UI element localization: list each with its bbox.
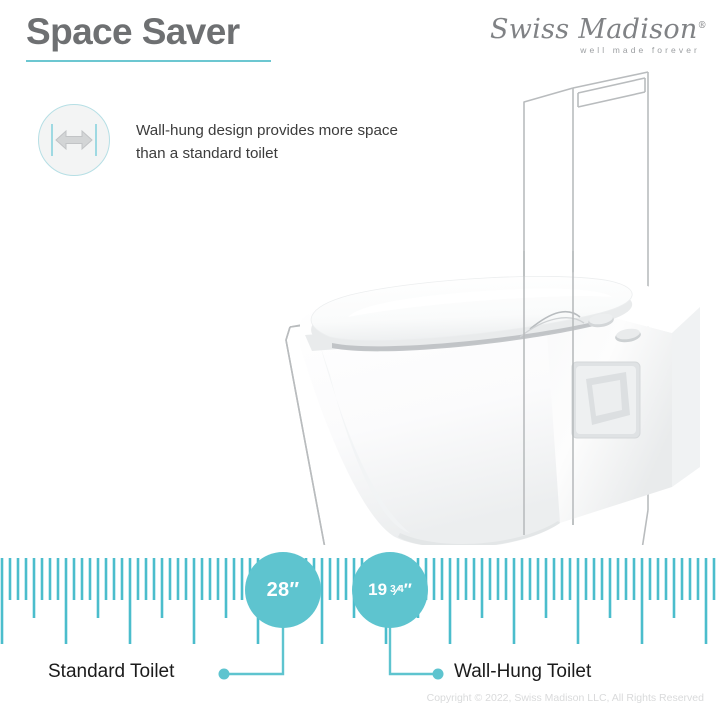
connector-dot-wallhung	[433, 669, 444, 680]
brand-tagline: well made forever	[490, 45, 702, 55]
measurement-whole-wallhung: 19	[368, 580, 387, 600]
measurement-badge-standard: 28″	[245, 552, 321, 628]
product-spec-sheet: Space Saver Swiss Madison® well made for…	[0, 0, 720, 720]
brand-name: Swiss Madison®	[490, 16, 702, 43]
measurement-badge-wallhung: 193⁄4″	[352, 552, 428, 628]
connector-line-wallhung	[390, 622, 434, 674]
registered-trademark-icon: ®	[698, 21, 707, 31]
measurement-fraction-wallhung: 3⁄4	[390, 582, 404, 599]
page-title: Space Saver	[26, 13, 240, 52]
measurement-value-standard: 28″	[267, 579, 300, 602]
brand-name-text: Swiss Madison	[490, 14, 698, 45]
measurement-unit-wallhung: ″	[404, 580, 412, 600]
connector-dot-standard	[219, 669, 230, 680]
copyright-notice: Copyright © 2022, Swiss Madison LLC, All…	[427, 692, 704, 704]
product-illustration	[0, 55, 720, 545]
connector-line-standard	[228, 620, 283, 674]
wall-hung-toilet-photo	[300, 267, 700, 545]
label-wall-hung-toilet: Wall-Hung Toilet	[454, 661, 591, 683]
label-standard-toilet: Standard Toilet	[48, 661, 174, 683]
